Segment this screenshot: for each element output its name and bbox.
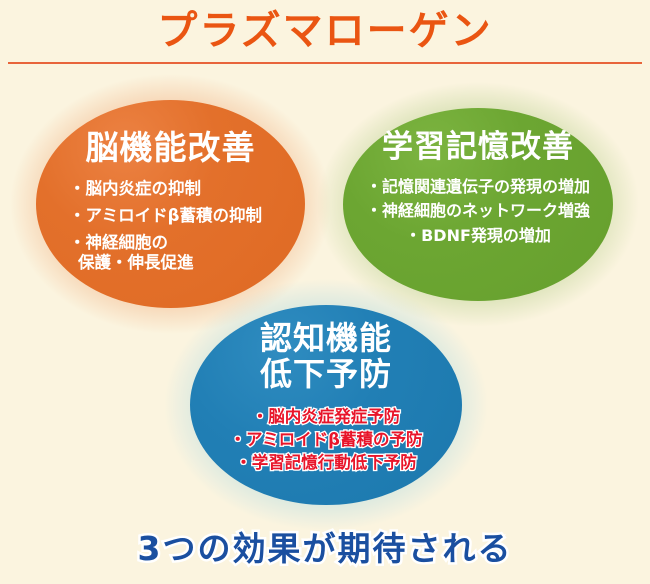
bubble-title-line1: 認知機能 (190, 321, 462, 357)
list-item: ・BDNF発現の増加 (343, 226, 613, 246)
bubble-item-list: ・脳内炎症の抑制 ・アミロイドβ蓄積の抑制 ・神経細胞の 保護・伸長促進 (36, 179, 305, 274)
bubble-content: 学習記憶改善 ・記憶関連遺伝子の発現の増加 ・神経細胞のネットワーク増強 ・BD… (343, 108, 613, 245)
list-item: ・アミロイドβ蓄積の予防 (190, 430, 462, 450)
page-title: プラズマローゲン (0, 6, 650, 56)
bubble-item-list: ・記憶関連遺伝子の発現の増加 ・神経細胞のネットワーク増強 ・BDNF発現の増加 (343, 177, 613, 246)
list-item: ・脳内炎症発症予防 (190, 407, 462, 427)
list-item: ・脳内炎症の抑制 (69, 179, 305, 199)
bubble-item-list: ・脳内炎症発症予防 ・アミロイドβ蓄積の予防 ・学習記憶行動低下予防 (190, 407, 462, 473)
bubble-brain-function: 脳機能改善 ・脳内炎症の抑制 ・アミロイドβ蓄積の抑制 ・神経細胞の 保護・伸長… (36, 100, 305, 308)
bubble-title: 脳機能改善 (36, 130, 305, 167)
bubble-learning-memory: 学習記憶改善 ・記憶関連遺伝子の発現の増加 ・神経細胞のネットワーク増強 ・BD… (343, 108, 613, 301)
list-item: ・学習記憶行動低下予防 (190, 453, 462, 473)
list-item-line1: ・神経細胞の (69, 233, 168, 252)
bubble-content: 認知機能 低下予防 ・脳内炎症発症予防 ・アミロイドβ蓄積の予防 ・学習記憶行動… (190, 305, 462, 473)
list-item-line2: 保護・伸長促進 (69, 253, 305, 273)
list-item: ・記憶関連遺伝子の発現の増加 (343, 177, 613, 197)
bubble-cognitive-decline: 認知機能 低下予防 ・脳内炎症発症予防 ・アミロイドβ蓄積の予防 ・学習記憶行動… (190, 305, 462, 505)
title-divider (8, 62, 642, 64)
list-item: ・アミロイドβ蓄積の抑制 (69, 206, 305, 226)
list-item: ・神経細胞のネットワーク増強 (343, 201, 613, 221)
infographic-canvas: プラズマローゲン 脳機能改善 ・脳内炎症の抑制 ・アミロイドβ蓄積の抑制 ・神経… (0, 0, 650, 584)
bubble-title: 学習記憶改善 (343, 130, 613, 165)
bubble-title-line2: 低下予防 (190, 357, 462, 393)
list-item: ・神経細胞の 保護・伸長促進 (69, 233, 305, 273)
bubble-content: 脳機能改善 ・脳内炎症の抑制 ・アミロイドβ蓄積の抑制 ・神経細胞の 保護・伸長… (36, 100, 305, 273)
footer-caption: 3つの効果が期待される (0, 522, 650, 570)
